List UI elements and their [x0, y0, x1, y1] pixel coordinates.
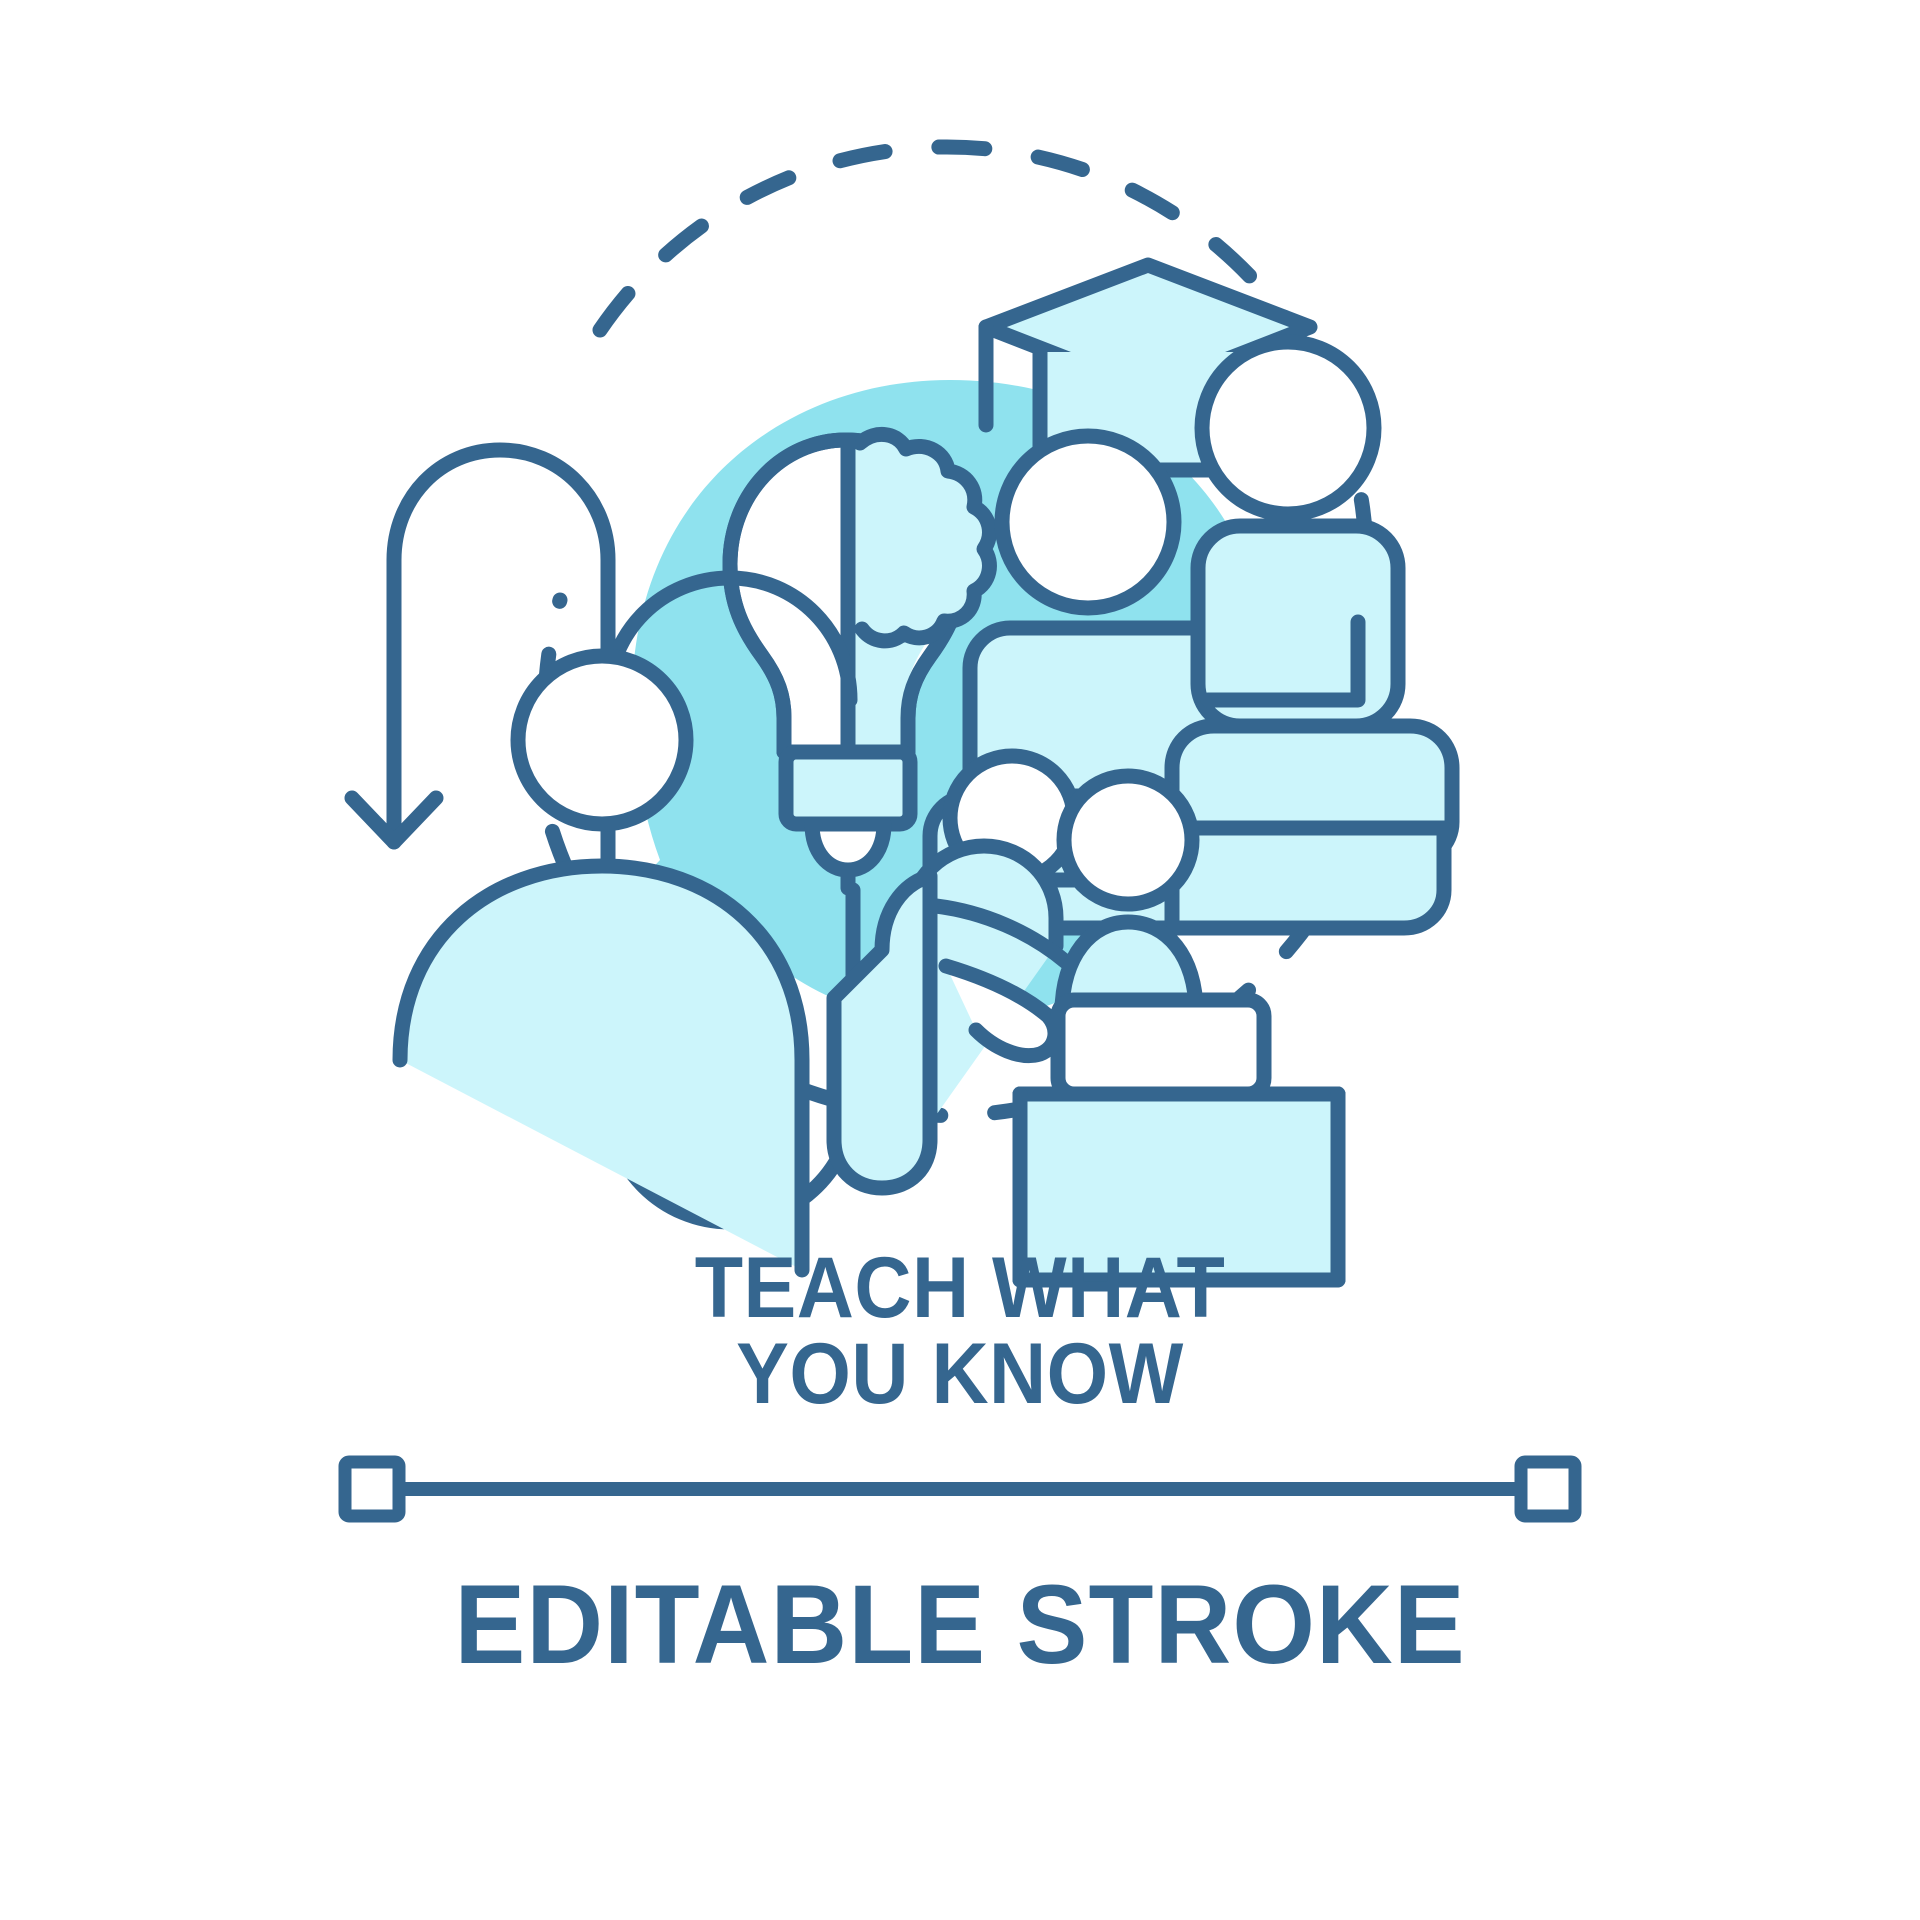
- desk-student-head: [1064, 776, 1192, 904]
- bulb-base: [786, 752, 910, 824]
- listener-head: [518, 656, 686, 824]
- seated-student-right: [1172, 342, 1452, 928]
- student-right-head: [1202, 342, 1374, 514]
- student-right-seat: [1172, 828, 1444, 928]
- listener-shoulders: [400, 866, 802, 1270]
- desk-laptop: [1058, 1000, 1264, 1094]
- illustration-artboard: .st { fill:none; stroke:#35668F; stroke-…: [0, 0, 1920, 1920]
- icon-canvas: .st { fill:none; stroke:#35668F; stroke-…: [0, 0, 1920, 1920]
- desk-body: [1020, 1094, 1338, 1280]
- student-left-head: [1002, 436, 1174, 608]
